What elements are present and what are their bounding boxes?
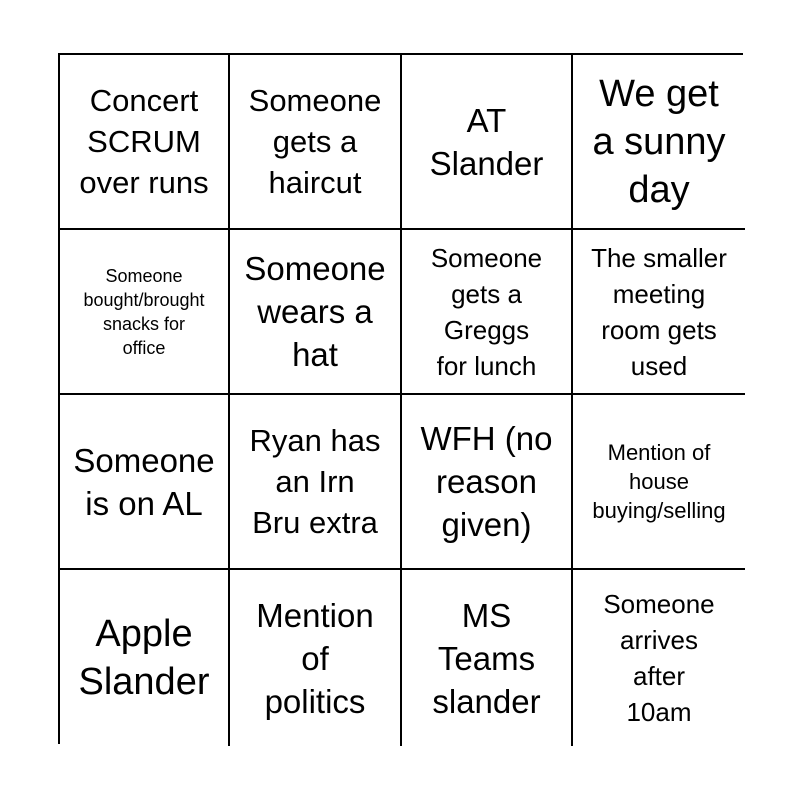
bingo-cell-r2c3[interactable]: Someone gets a Greggs for lunch (402, 230, 573, 395)
bingo-cell-text: Apple Slander (65, 610, 223, 706)
bingo-cell-r4c2[interactable]: Mention of politics (230, 570, 402, 746)
bingo-cell-text: Someone bought/brought snacks for office (65, 264, 223, 360)
bingo-cell-text: Someone wears a hat (235, 247, 395, 376)
bingo-cell-text: Someone arrives after 10am (578, 586, 740, 730)
bingo-grid: Concert SCRUM over runs Someone gets a h… (58, 53, 743, 744)
bingo-cell-r4c1[interactable]: Apple Slander (60, 570, 230, 746)
bingo-cell-text: Mention of house buying/selling (578, 438, 740, 525)
bingo-cell-text: Mention of politics (235, 594, 395, 723)
bingo-cell-r1c3[interactable]: AT Slander (402, 55, 573, 230)
bingo-cell-text: Concert SCRUM over runs (65, 80, 223, 203)
bingo-cell-r2c2[interactable]: Someone wears a hat (230, 230, 402, 395)
bingo-cell-text: MS Teams slander (407, 594, 566, 723)
bingo-cell-text: Someone gets a Greggs for lunch (407, 240, 566, 384)
bingo-cell-text: WFH (no reason given) (407, 417, 566, 546)
bingo-cell-text: We get a sunny day (578, 70, 740, 214)
bingo-cell-r1c4[interactable]: We get a sunny day (573, 55, 745, 230)
bingo-cell-r3c4[interactable]: Mention of house buying/selling (573, 395, 745, 570)
bingo-cell-r2c4[interactable]: The smaller meeting room gets used (573, 230, 745, 395)
bingo-cell-r3c1[interactable]: Someone is on AL (60, 395, 230, 570)
bingo-cell-r1c2[interactable]: Someone gets a haircut (230, 55, 402, 230)
bingo-cell-text: Someone gets a haircut (235, 80, 395, 203)
bingo-cell-r4c4[interactable]: Someone arrives after 10am (573, 570, 745, 746)
bingo-cell-r3c2[interactable]: Ryan has an Irn Bru extra (230, 395, 402, 570)
bingo-cell-r1c1[interactable]: Concert SCRUM over runs (60, 55, 230, 230)
bingo-cell-text: The smaller meeting room gets used (578, 240, 740, 384)
bingo-cell-text: AT Slander (407, 99, 566, 185)
bingo-cell-r4c3[interactable]: MS Teams slander (402, 570, 573, 746)
bingo-cell-text: Ryan has an Irn Bru extra (235, 420, 395, 543)
bingo-card-root: Concert SCRUM over runs Someone gets a h… (0, 0, 800, 800)
bingo-cell-r2c1[interactable]: Someone bought/brought snacks for office (60, 230, 230, 395)
bingo-cell-r3c3[interactable]: WFH (no reason given) (402, 395, 573, 570)
bingo-cell-text: Someone is on AL (65, 439, 223, 525)
